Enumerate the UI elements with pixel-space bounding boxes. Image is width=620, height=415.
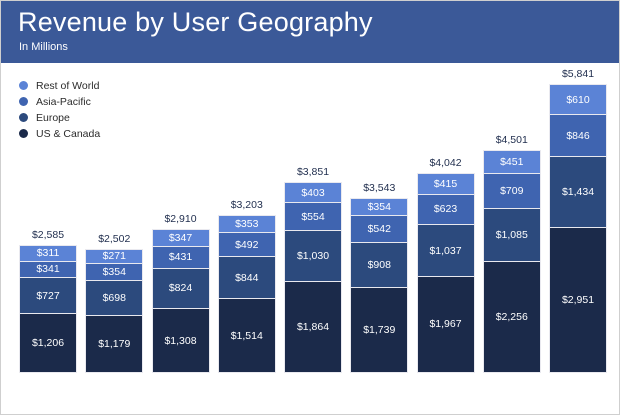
page-subtitle: In Millions	[19, 41, 68, 54]
bar-segment-label: $908	[368, 259, 391, 271]
bar-segment-label: $542	[368, 223, 391, 235]
bar-segment[interactable]: $844	[218, 256, 276, 298]
bar-segment[interactable]: $1,179	[85, 315, 143, 373]
bar-segment[interactable]: $311	[19, 245, 77, 260]
bar-total-label: $2,910	[152, 213, 210, 226]
bar-stack: $353$492$844$1,514	[218, 215, 276, 373]
bar-segment[interactable]: $431	[152, 246, 210, 267]
bar-segment-label: $844	[235, 272, 258, 284]
bar-segment[interactable]: $1,206	[19, 313, 77, 373]
plot-area: $2,585$311$341$727$1,206$2,502$271$354$6…	[19, 63, 607, 373]
bar-segment-label: $2,951	[562, 294, 594, 306]
bar-segment[interactable]: $824	[152, 268, 210, 309]
bar-total-label: $4,042	[417, 157, 475, 170]
bar-segment[interactable]: $610	[549, 84, 607, 114]
bar-segment[interactable]: $403	[284, 182, 342, 202]
bar-segment-label: $1,514	[231, 330, 263, 342]
bar-stack: $354$542$908$1,739	[350, 198, 408, 373]
bar-group: $2,585$311$341$727$1,206$2,502$271$354$6…	[19, 63, 607, 373]
bar-column[interactable]: $2,502$271$354$698$1,179	[85, 63, 143, 373]
bar-segment[interactable]: $1,308	[152, 308, 210, 373]
bar-segment[interactable]: $542	[350, 215, 408, 242]
chart-header: Revenue by User Geography In Millions	[1, 1, 620, 63]
bar-stack: $415$623$1,037$1,967	[417, 173, 475, 373]
bar-segment[interactable]: $354	[350, 198, 408, 216]
bar-segment-label: $1,864	[297, 321, 329, 333]
bar-segment-label: $354	[103, 266, 126, 278]
bar-total-label: $3,543	[350, 182, 408, 195]
bar-segment-label: $1,179	[98, 338, 130, 350]
bar-stack: $347$431$824$1,308	[152, 229, 210, 373]
bar-segment-label: $1,037	[429, 245, 461, 257]
bar-segment-label: $1,967	[429, 318, 461, 330]
bar-total-label: $5,841	[549, 68, 607, 81]
bar-column[interactable]: $3,851$403$554$1,030$1,864	[284, 63, 342, 373]
bar-segment[interactable]: $2,256	[483, 261, 541, 373]
bar-stack: $451$709$1,085$2,256	[483, 150, 541, 373]
bar-column[interactable]: $4,042$415$623$1,037$1,967	[417, 63, 475, 373]
bar-segment-label: $1,030	[297, 250, 329, 262]
bar-segment[interactable]: $492	[218, 232, 276, 256]
bar-segment[interactable]: $354	[85, 263, 143, 281]
bar-segment[interactable]: $1,739	[350, 287, 408, 373]
bar-segment-label: $610	[566, 94, 589, 106]
bar-segment[interactable]: $709	[483, 173, 541, 208]
bar-segment-label: $1,085	[496, 229, 528, 241]
bar-segment-label: $698	[103, 292, 126, 304]
bar-segment[interactable]: $1,864	[284, 281, 342, 373]
bar-segment[interactable]: $1,434	[549, 156, 607, 227]
bar-segment-label: $554	[301, 211, 324, 223]
bar-stack: $610$846$1,434$2,951	[549, 84, 607, 373]
bar-column[interactable]: $3,543$354$542$908$1,739	[350, 63, 408, 373]
bar-segment[interactable]: $846	[549, 114, 607, 156]
bar-segment[interactable]: $1,085	[483, 208, 541, 262]
chart-body: Rest of WorldAsia-PacificEuropeUS & Cana…	[1, 63, 620, 415]
bar-column[interactable]: $4,501$451$709$1,085$2,256	[483, 63, 541, 373]
bar-segment[interactable]: $271	[85, 249, 143, 262]
bar-stack: $311$341$727$1,206	[19, 245, 77, 373]
bar-segment[interactable]: $1,967	[417, 276, 475, 373]
bar-segment[interactable]: $727	[19, 277, 77, 313]
bar-segment[interactable]: $1,514	[218, 298, 276, 373]
bar-total-label: $3,203	[218, 199, 276, 212]
bar-segment-label: $709	[500, 185, 523, 197]
bar-segment-label: $1,739	[363, 324, 395, 336]
bar-segment-label: $727	[36, 290, 59, 302]
bar-segment-label: $623	[434, 203, 457, 215]
bar-segment[interactable]: $2,951	[549, 227, 607, 373]
bar-column[interactable]: $2,910$347$431$824$1,308	[152, 63, 210, 373]
bar-segment[interactable]: $451	[483, 150, 541, 172]
bar-segment[interactable]: $347	[152, 229, 210, 246]
bar-segment-label: $341	[36, 263, 59, 275]
bar-segment-label: $1,308	[164, 335, 196, 347]
bar-segment-label: $824	[169, 282, 192, 294]
bar-segment-label: $431	[169, 251, 192, 263]
bar-segment-label: $451	[500, 156, 523, 168]
bar-total-label: $3,851	[284, 166, 342, 179]
bar-segment-label: $2,256	[496, 311, 528, 323]
page-title: Revenue by User Geography	[18, 6, 373, 38]
bar-total-label: $2,585	[19, 229, 77, 242]
bar-column[interactable]: $5,841$610$846$1,434$2,951	[549, 63, 607, 373]
bar-segment-label: $1,434	[562, 186, 594, 198]
bar-column[interactable]: $2,585$311$341$727$1,206	[19, 63, 77, 373]
bar-segment[interactable]: $1,037	[417, 224, 475, 275]
bar-segment-label: $311	[37, 247, 60, 259]
bar-segment-label: $353	[235, 218, 258, 230]
bar-total-label: $2,502	[85, 233, 143, 246]
bar-segment-label: $271	[103, 250, 126, 262]
bar-column[interactable]: $3,203$353$492$844$1,514	[218, 63, 276, 373]
bar-stack: $403$554$1,030$1,864	[284, 182, 342, 373]
bar-segment[interactable]: $554	[284, 202, 342, 229]
bar-segment[interactable]: $1,030	[284, 230, 342, 281]
bar-segment-label: $1,206	[32, 337, 64, 349]
bar-total-label: $4,501	[483, 134, 541, 147]
chart-page: Revenue by User Geography In Millions Re…	[0, 0, 620, 415]
bar-segment[interactable]: $415	[417, 173, 475, 194]
bar-segment-label: $354	[368, 201, 391, 213]
bar-segment[interactable]: $908	[350, 242, 408, 287]
bar-segment-label: $415	[434, 178, 457, 190]
bar-segment[interactable]: $353	[218, 215, 276, 232]
bar-segment-label: $403	[301, 187, 324, 199]
bar-segment-label: $492	[235, 239, 258, 251]
bar-segment-label: $846	[566, 130, 589, 142]
bar-segment[interactable]: $341	[19, 261, 77, 278]
bar-segment-label: $347	[169, 232, 192, 244]
bar-stack: $271$354$698$1,179	[85, 249, 143, 373]
bar-segment[interactable]: $623	[417, 194, 475, 225]
bar-segment[interactable]: $698	[85, 280, 143, 315]
